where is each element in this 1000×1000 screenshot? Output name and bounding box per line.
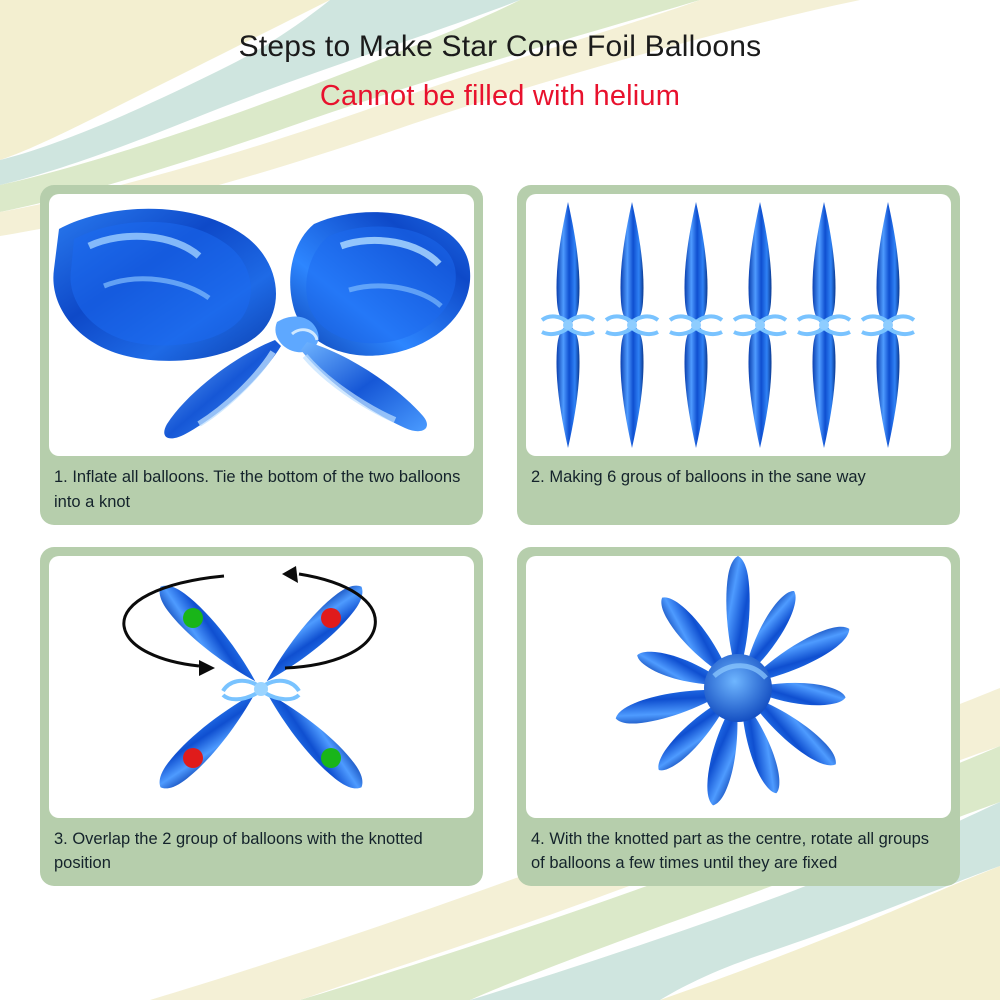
step-4-photo [526,556,951,818]
step-4-caption: 4. With the knotted part as the centre, … [517,818,960,887]
page-title: Steps to Make Star Cone Foil Balloons [0,30,1000,64]
poster-header: Steps to Make Star Cone Foil Balloons Ca… [0,30,1000,113]
step-3-caption: 3. Overlap the 2 group of balloons with … [40,818,483,887]
step-1-photo [49,194,474,456]
red-dot-bottom-left [183,748,203,768]
step-card-1: 1. Inflate all balloons. Tie the bottom … [40,185,483,525]
step-2-caption: 2. Making 6 grous of balloons in the san… [517,456,960,512]
step-card-2: 2. Making 6 grous of balloons in the san… [517,185,960,525]
warning-subtitle: Cannot be filled with helium [0,80,1000,113]
step-1-caption: 1. Inflate all balloons. Tie the bottom … [40,456,483,525]
green-dot-top-left [183,608,203,628]
step-2-photo [526,194,951,456]
green-dot-bottom-right [321,748,341,768]
red-dot-top-right [321,608,341,628]
step-card-4: 4. With the knotted part as the centre, … [517,547,960,887]
steps-grid: 1. Inflate all balloons. Tie the bottom … [40,185,960,886]
step-card-3: 3. Overlap the 2 group of balloons with … [40,547,483,887]
step-3-photo [49,556,474,818]
instruction-poster: Steps to Make Star Cone Foil Balloons Ca… [0,0,1000,1000]
